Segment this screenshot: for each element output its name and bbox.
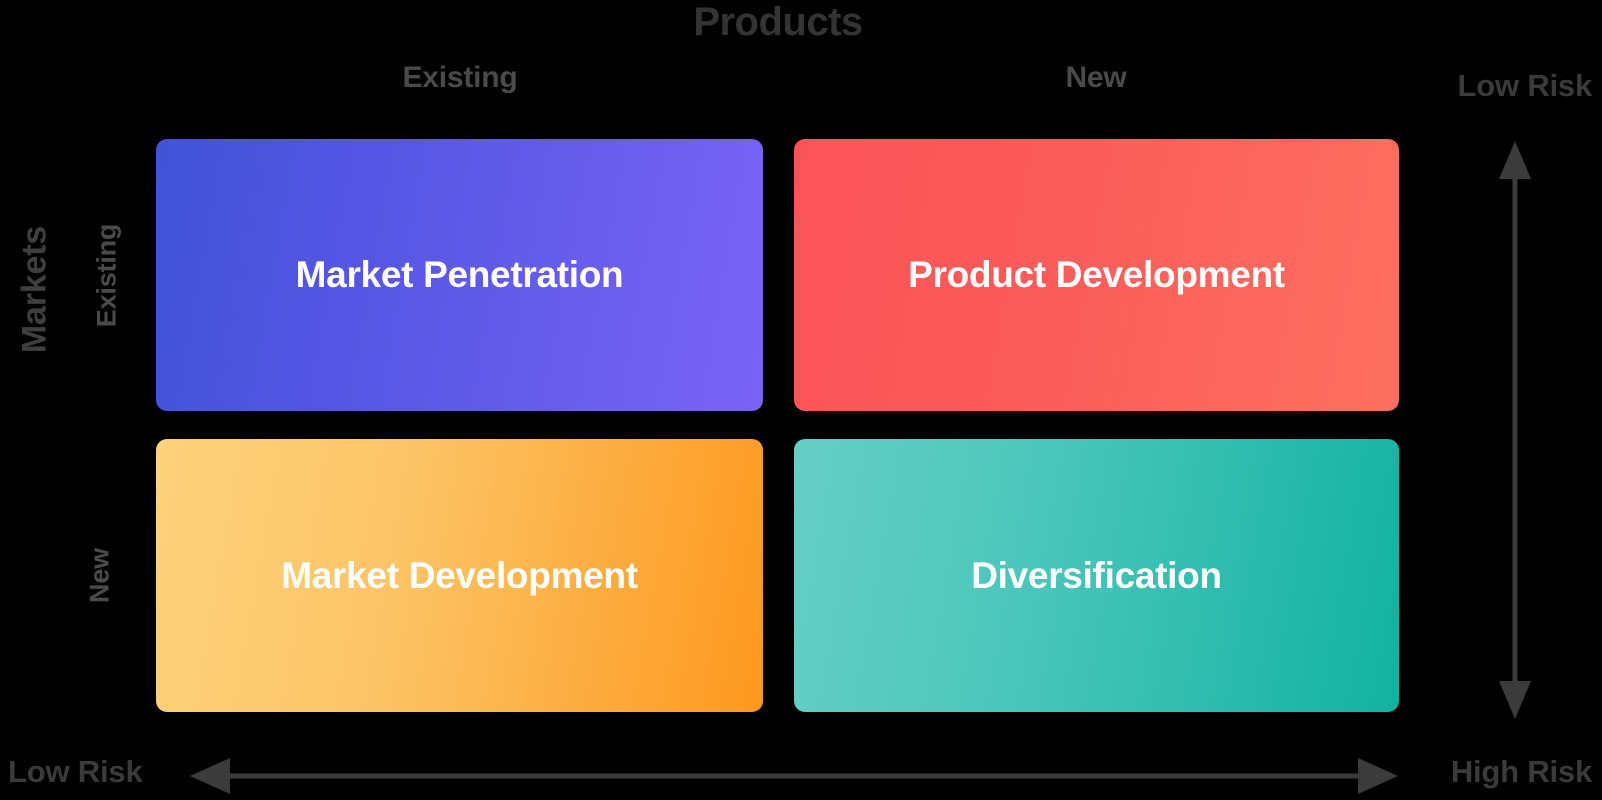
horizontal-axis-high-risk-label: High Risk <box>1451 752 1592 792</box>
column-header-new: New <box>794 58 1398 98</box>
horizontal-risk-arrow-icon <box>190 757 1398 795</box>
quadrant-label-product-development: Product Development <box>908 254 1285 296</box>
quadrant-label-market-development: Market Development <box>281 555 638 597</box>
quadrant-label-market-penetration: Market Penetration <box>296 254 624 296</box>
row-header-new: New <box>85 461 116 691</box>
ansoff-matrix-diagram: Products Existing New Low Risk Markets E… <box>0 0 1602 800</box>
quadrant-label-diversification: Diversification <box>971 555 1221 597</box>
horizontal-axis-low-risk-label: Low Risk <box>8 752 142 792</box>
quadrant-market-penetration[interactable]: Market Penetration <box>156 139 763 411</box>
vertical-risk-arrow-icon <box>1494 141 1536 719</box>
markets-axis-title: Markets <box>16 180 55 400</box>
column-header-existing: Existing <box>155 58 765 98</box>
matrix-grid: Market Penetration Product Development M… <box>156 139 1399 712</box>
row-header-existing: Existing <box>92 161 123 391</box>
quadrant-market-development[interactable]: Market Development <box>156 439 763 712</box>
quadrant-product-development[interactable]: Product Development <box>794 139 1399 411</box>
products-axis-title: Products <box>0 0 1556 46</box>
quadrant-diversification[interactable]: Diversification <box>794 439 1399 712</box>
vertical-axis-low-risk-label: Low Risk <box>1458 68 1592 104</box>
